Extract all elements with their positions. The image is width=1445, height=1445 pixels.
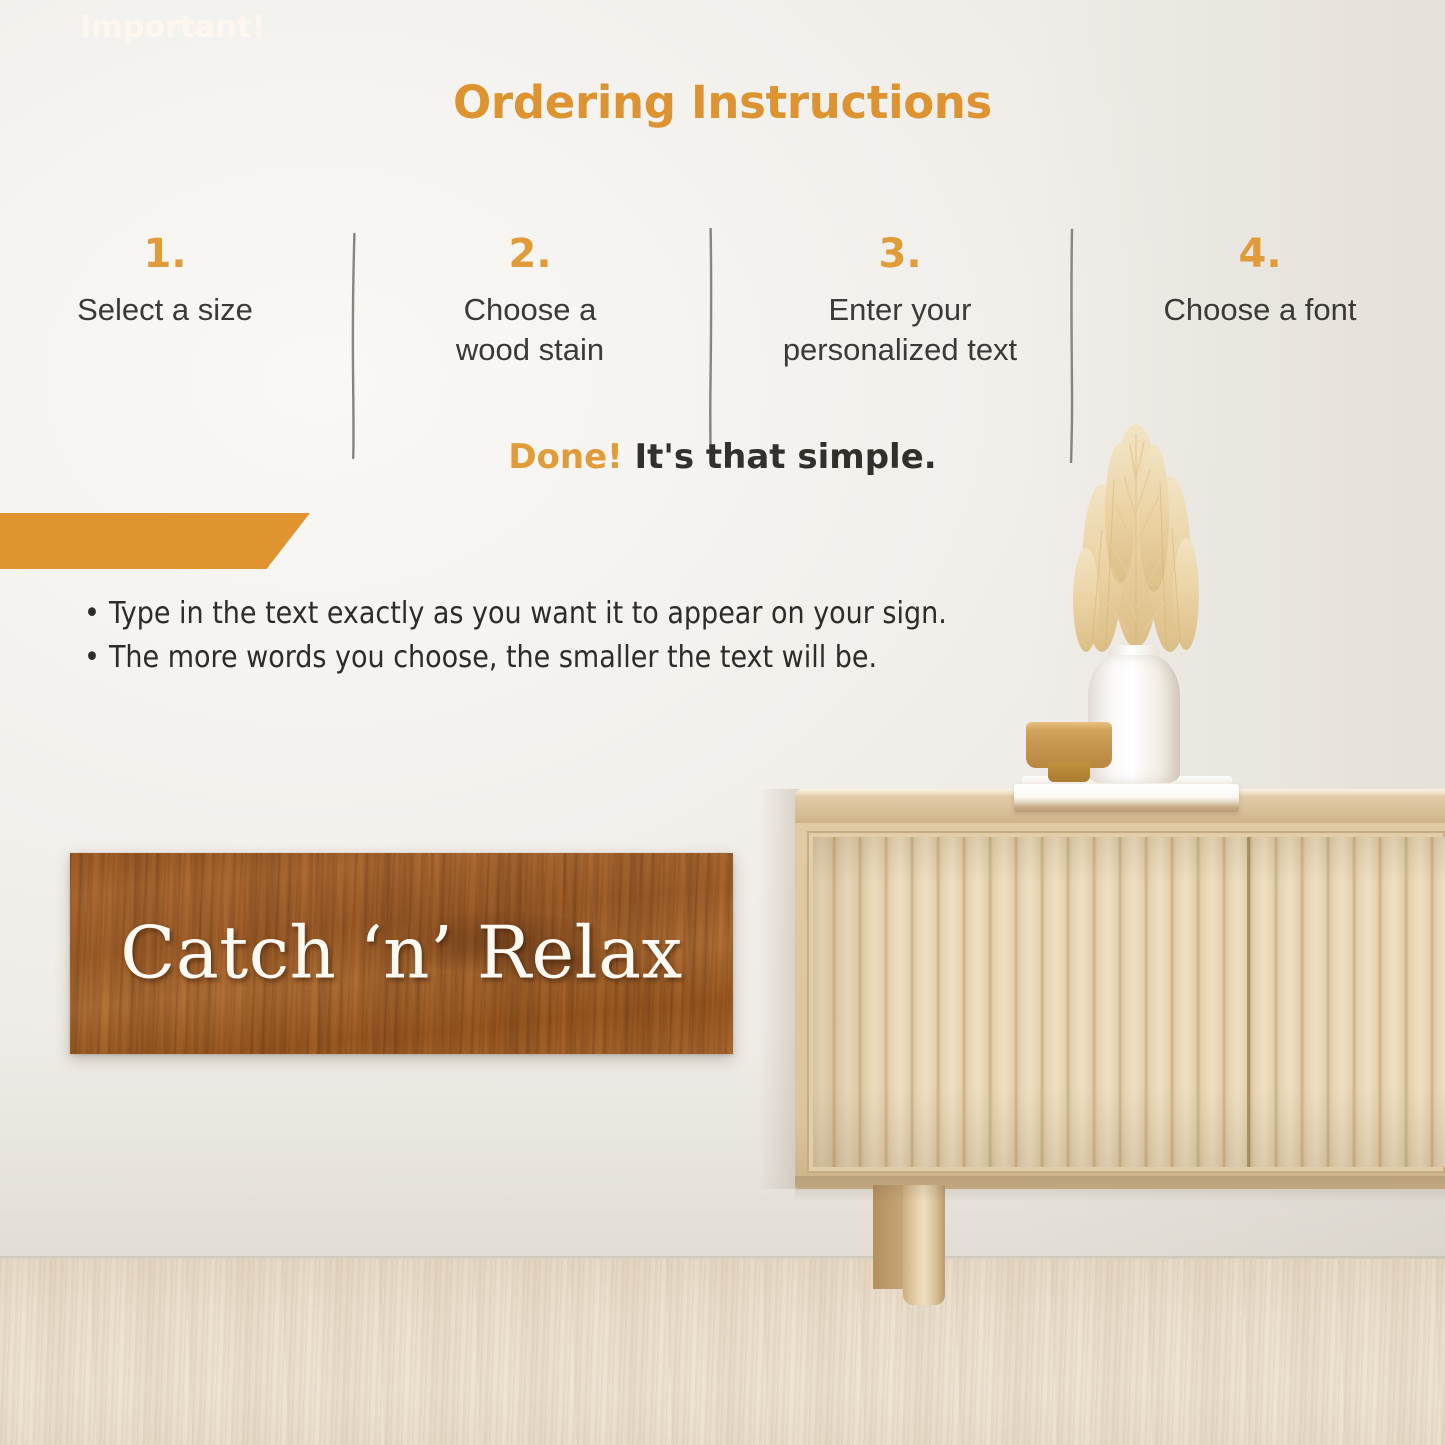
step-4-number: 4. [1090,228,1430,280]
step-4-label: Choose a font [1090,290,1430,330]
steps-row: 1. Select a size 2. Choose a wood stain … [0,228,1445,428]
step-1: 1. Select a size [0,228,330,330]
sideboard-furniture [795,789,1445,1189]
step-divider-1 [345,228,363,463]
done-statement: Done! It's that simple. [0,434,1445,480]
wooden-bowl-rim [1026,722,1112,731]
page-title: Ordering Instructions [0,76,1445,129]
wood-floor [0,1259,1445,1445]
wooden-sign-product: Catch ‘n’ Relax [70,853,733,1054]
sideboard-door-seam [1247,837,1250,1167]
important-banner-label: Important! [80,0,265,56]
sideboard-floor-shadow [795,1176,1445,1202]
book-decor [1014,784,1239,812]
step-3: 3. Enter your personalized text [728,228,1072,370]
step-1-label: Select a size [0,290,330,330]
step-divider-3 [1063,228,1081,463]
step-3-number: 3. [728,228,1072,280]
bullet-marker-icon: • [84,596,100,631]
list-item: •Type in the text exactly as you want it… [84,592,1134,636]
list-item: •The more words you choose, the smaller … [84,636,1134,680]
wooden-bowl-foot [1048,762,1090,782]
important-bullet-list: •Type in the text exactly as you want it… [84,592,1134,680]
step-3-label: Enter your personalized text [728,290,1072,370]
product-infographic-page: Ordering Instructions 1. Select a size 2… [0,0,1445,1445]
step-2-label: Choose a wood stain [372,290,688,370]
done-highlight: Done! [508,437,622,477]
sideboard-slat-shading [813,837,1445,1167]
done-rest: It's that simple. [635,437,937,477]
sign-personalized-text: Catch ‘n’ Relax [70,910,733,994]
bullet-text: Type in the text exactly as you want it … [109,596,947,631]
bullet-marker-icon: • [84,640,100,675]
sideboard-leg-front [903,1185,945,1305]
step-divider-2 [702,228,720,463]
bullet-text: The more words you choose, the smaller t… [109,640,877,675]
step-2: 2. Choose a wood stain [372,228,688,370]
step-2-number: 2. [372,228,688,280]
step-1-number: 1. [0,228,330,280]
step-4: 4. Choose a font [1090,228,1430,330]
important-banner [0,513,310,569]
